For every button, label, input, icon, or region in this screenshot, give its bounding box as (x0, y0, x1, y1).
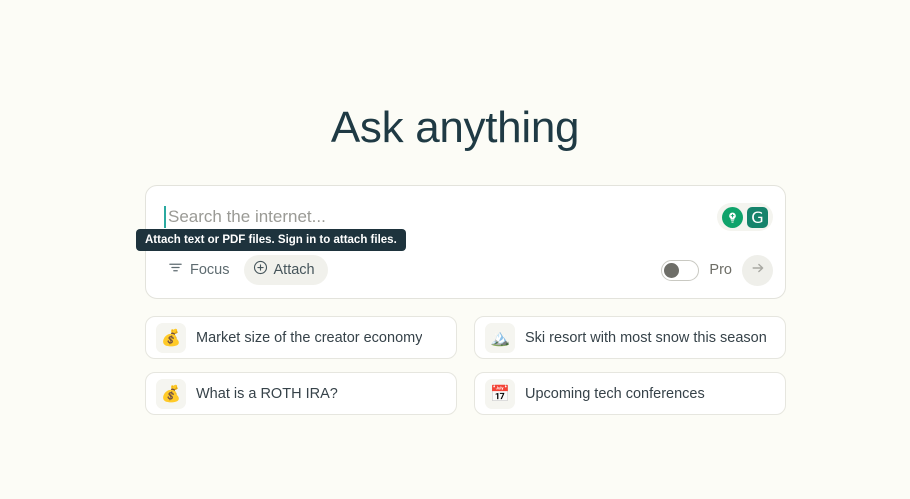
focus-filter-icon (168, 260, 183, 280)
submit-button[interactable] (742, 255, 773, 286)
attach-button[interactable]: Attach (244, 255, 328, 285)
app-root: Ask anything Search the internet... G (0, 0, 910, 499)
attach-tooltip: Attach text or PDF files. Sign in to att… (136, 229, 406, 251)
lightbulb-extension-icon[interactable] (722, 206, 744, 228)
suggestion-card-0[interactable]: 💰 Market size of the creator economy (145, 316, 457, 359)
suggestion-label: Upcoming tech conferences (525, 386, 705, 402)
plus-circle-icon (253, 260, 268, 280)
suggestion-card-2[interactable]: 💰 What is a ROTH IRA? (145, 372, 457, 415)
pro-toggle-knob (664, 263, 679, 278)
browser-extension-badges: G (717, 203, 773, 231)
grammarly-g-glyph: G (747, 207, 768, 228)
toolbar-left-group: Focus Attach (162, 254, 328, 286)
money-bag-emoji: 💰 (156, 379, 186, 409)
arrow-right-icon (750, 260, 766, 281)
suggestion-grid: 💰 Market size of the creator economy 🏔️ … (145, 316, 786, 415)
attach-label: Attach (274, 262, 315, 278)
pro-toggle[interactable] (661, 260, 699, 281)
snow-mountain-emoji: 🏔️ (485, 323, 515, 353)
focus-button[interactable]: Focus (162, 255, 236, 285)
pro-label: Pro (709, 262, 732, 278)
suggestion-label: Market size of the creator economy (196, 330, 422, 346)
focus-label: Focus (190, 262, 230, 278)
suggestion-label: Ski resort with most snow this season (525, 330, 767, 346)
suggestion-label: What is a ROTH IRA? (196, 386, 338, 402)
page-title: Ask anything (0, 100, 910, 156)
suggestion-card-1[interactable]: 🏔️ Ski resort with most snow this season (474, 316, 786, 359)
money-bag-emoji: 💰 (156, 323, 186, 353)
suggestion-card-3[interactable]: 📅 Upcoming tech conferences (474, 372, 786, 415)
search-input[interactable]: Search the internet... (164, 202, 695, 232)
grammarly-extension-icon[interactable]: G (747, 206, 769, 228)
text-caret (164, 206, 166, 228)
search-toolbar: Focus Attach Pro (146, 254, 785, 286)
calendar-emoji: 📅 (485, 379, 515, 409)
search-placeholder: Search the internet... (168, 206, 326, 228)
toolbar-right-group: Pro (661, 254, 773, 286)
